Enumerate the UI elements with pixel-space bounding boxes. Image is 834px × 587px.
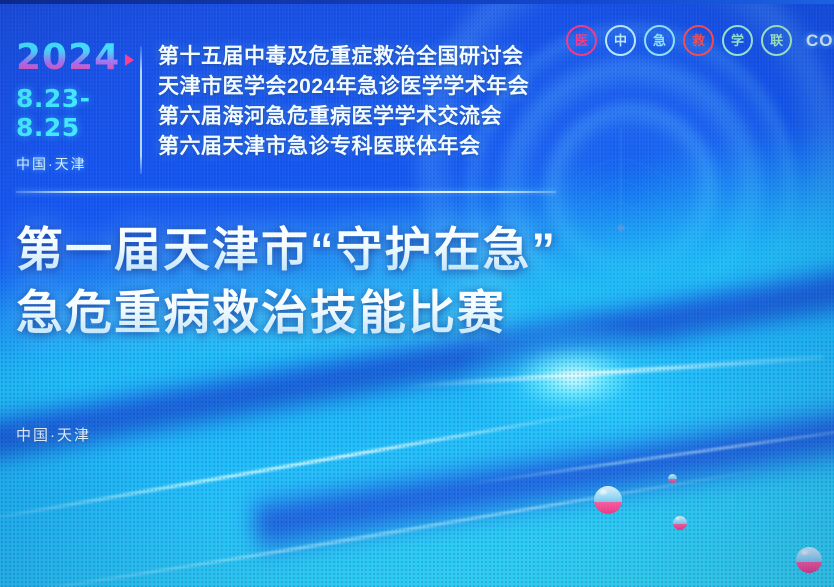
logo-alliance-icon: 联 (761, 25, 792, 56)
brand-text: COMC (806, 31, 834, 51)
floating-sphere (796, 547, 822, 573)
sphere-bottom-half (594, 502, 622, 514)
date-range: 8.23-8.25 (16, 84, 134, 142)
logo-glyph: 联 (770, 34, 783, 47)
logo-glyph: 医 (575, 34, 588, 47)
header-vertical-divider (140, 46, 142, 174)
page-title-line: 第一届天津市“守护在急” (16, 218, 557, 281)
organizer-logo-row: 医中急救学联COMC (566, 25, 834, 56)
floating-sphere (673, 516, 687, 530)
sphere-bottom-half (796, 562, 822, 573)
logo-haihe-academy-icon: 学 (722, 25, 753, 56)
logo-cma-emblem-icon: 医 (566, 25, 597, 56)
logo-tianjin-medical-icon: 中 (605, 25, 636, 56)
page-title: 第一届天津市“守护在急”急危重病救治技能比赛 (16, 218, 557, 345)
conference-title-list: 第十五届中毒及危重症救治全国研讨会天津市医学会2024年急诊医学学术年会第六届海… (158, 40, 529, 162)
poster-header: 2024 8.23-8.25 中国·天津 第十五届中毒及危重症救治全国研讨会天津… (16, 40, 529, 174)
conference-title-line: 第六届天津市急诊专科医联体年会 (158, 132, 529, 162)
sphere-highlight (599, 489, 609, 496)
logo-glyph: 急 (653, 34, 666, 47)
conference-title-line: 天津市医学会2024年急诊医学学术年会 (158, 72, 529, 102)
triangle-right-icon (125, 54, 134, 66)
page-title-line: 急危重病救治技能比赛 (16, 281, 557, 344)
logo-glyph: 救 (692, 34, 705, 47)
header-location: 中国·天津 (16, 154, 134, 174)
halftone-texture-bottom (0, 340, 834, 587)
header-horizontal-divider (16, 191, 556, 193)
year-label: 2024 (16, 40, 134, 76)
floating-sphere (594, 486, 622, 514)
logo-glyph: 学 (731, 34, 744, 47)
sphere-highlight (801, 550, 810, 557)
floating-sphere (668, 474, 677, 483)
top-edge-strip (0, 0, 834, 4)
sphere-bottom-half (668, 479, 677, 483)
header-date-block: 2024 8.23-8.25 中国·天津 (16, 40, 134, 174)
logo-critical-care-icon: 救 (683, 25, 714, 56)
year-number: 2024 (16, 40, 120, 76)
logo-glyph: 中 (614, 34, 627, 47)
poster-canvas: 医中急救学联COMC 2024 8.23-8.25 中国·天津 第十五届中毒及危… (0, 0, 834, 587)
sphere-bottom-half (673, 524, 687, 530)
conference-title-line: 第六届海河急危重病医学学术交流会 (158, 102, 529, 132)
sphere-highlight (670, 475, 673, 477)
conference-title-line: 第十五届中毒及危重症救治全国研讨会 (158, 42, 529, 72)
logo-emergency-society-icon: 急 (644, 25, 675, 56)
footer-location: 中国·天津 (16, 424, 91, 445)
